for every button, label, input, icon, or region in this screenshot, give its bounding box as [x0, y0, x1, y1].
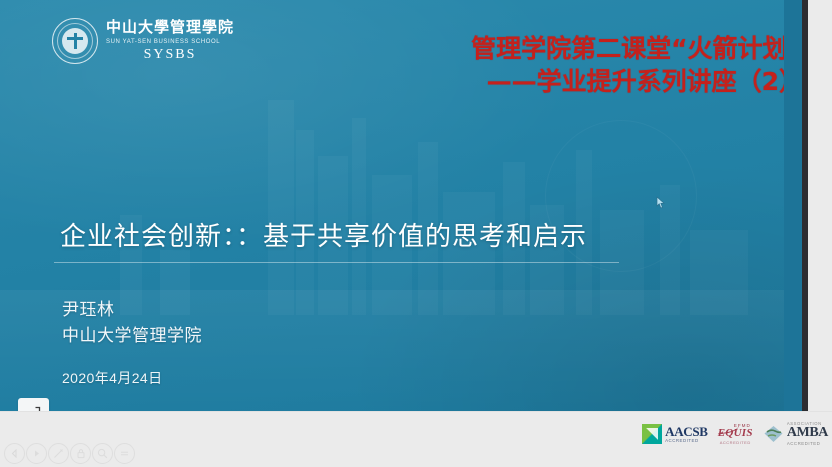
slide-date: 2020年4月24日 — [62, 368, 163, 388]
magnifier-icon — [97, 448, 108, 459]
title-divider — [54, 262, 619, 263]
play-triangle-icon — [32, 449, 41, 458]
school-logo: 中山大學管理學院 SUN YAT-SEN BUSINESS SCHOOL SYS… — [52, 18, 234, 64]
accreditation-logos: AACSB ACCREDITED EFMD EQUIS ACCREDITED A… — [642, 422, 828, 446]
slide-canvas[interactable]: 中山大學管理學院 SUN YAT-SEN BUSINESS SCHOOL SYS… — [0, 0, 808, 412]
menu-lines-icon — [119, 449, 130, 458]
presenter-block: 尹珏林 中山大学管理学院 — [62, 297, 202, 349]
presenter-name: 尹珏林 — [62, 297, 202, 323]
pen-icon — [53, 448, 64, 459]
event-banner: 管理学院第二课堂“火箭计划” ——学业提升系列讲座（2） — [471, 32, 804, 98]
play-button[interactable] — [26, 443, 47, 464]
amba-name: AMBA — [787, 426, 828, 440]
player-controls — [4, 443, 135, 464]
aacsb-diamond-icon — [642, 424, 662, 444]
menu-button[interactable] — [114, 443, 135, 464]
accreditation-equis: EFMD EQUIS ACCREDITED — [718, 423, 753, 445]
annotate-button[interactable] — [48, 443, 69, 464]
viewer-footer: AACSB ACCREDITED EFMD EQUIS ACCREDITED A… — [0, 411, 832, 467]
event-banner-line-1: 管理学院第二课堂“火箭计划” — [471, 32, 804, 65]
previous-button[interactable] — [4, 443, 25, 464]
event-banner-line-2: ——学业提升系列讲座（2） — [471, 65, 804, 98]
zoom-button[interactable] — [92, 443, 113, 464]
slide-right-inner-edge — [784, 0, 802, 412]
aacsb-name: AACSB — [665, 425, 708, 438]
presenter-affiliation: 中山大学管理学院 — [62, 323, 202, 349]
equis-subtitle: ACCREDITED — [720, 441, 751, 445]
logo-name-en: SUN YAT-SEN BUSINESS SCHOOL — [106, 39, 234, 45]
amba-subtitle: ACCREDITED — [787, 442, 828, 446]
text-cursor-icon — [656, 196, 665, 209]
window-right-border — [802, 0, 808, 412]
previous-triangle-icon — [10, 449, 19, 458]
accreditation-aacsb: AACSB ACCREDITED — [642, 424, 708, 444]
logo-abbreviation: SYSBS — [106, 48, 234, 62]
amba-globe-icon — [763, 425, 784, 443]
slide-title: 企业社会创新：：基于共享价值的思考和启示 — [60, 216, 587, 253]
lock-button[interactable] — [70, 443, 91, 464]
university-seal-icon — [52, 18, 98, 64]
accreditation-amba: ASSOCIATION AMBA ACCREDITED — [763, 422, 828, 446]
slide-viewer-window: 中山大學管理學院 SUN YAT-SEN BUSINESS SCHOOL SYS… — [0, 0, 832, 467]
logo-name-cn: 中山大學管理學院 — [106, 21, 234, 36]
aacsb-subtitle: ACCREDITED — [665, 439, 708, 443]
lock-icon — [76, 448, 86, 459]
